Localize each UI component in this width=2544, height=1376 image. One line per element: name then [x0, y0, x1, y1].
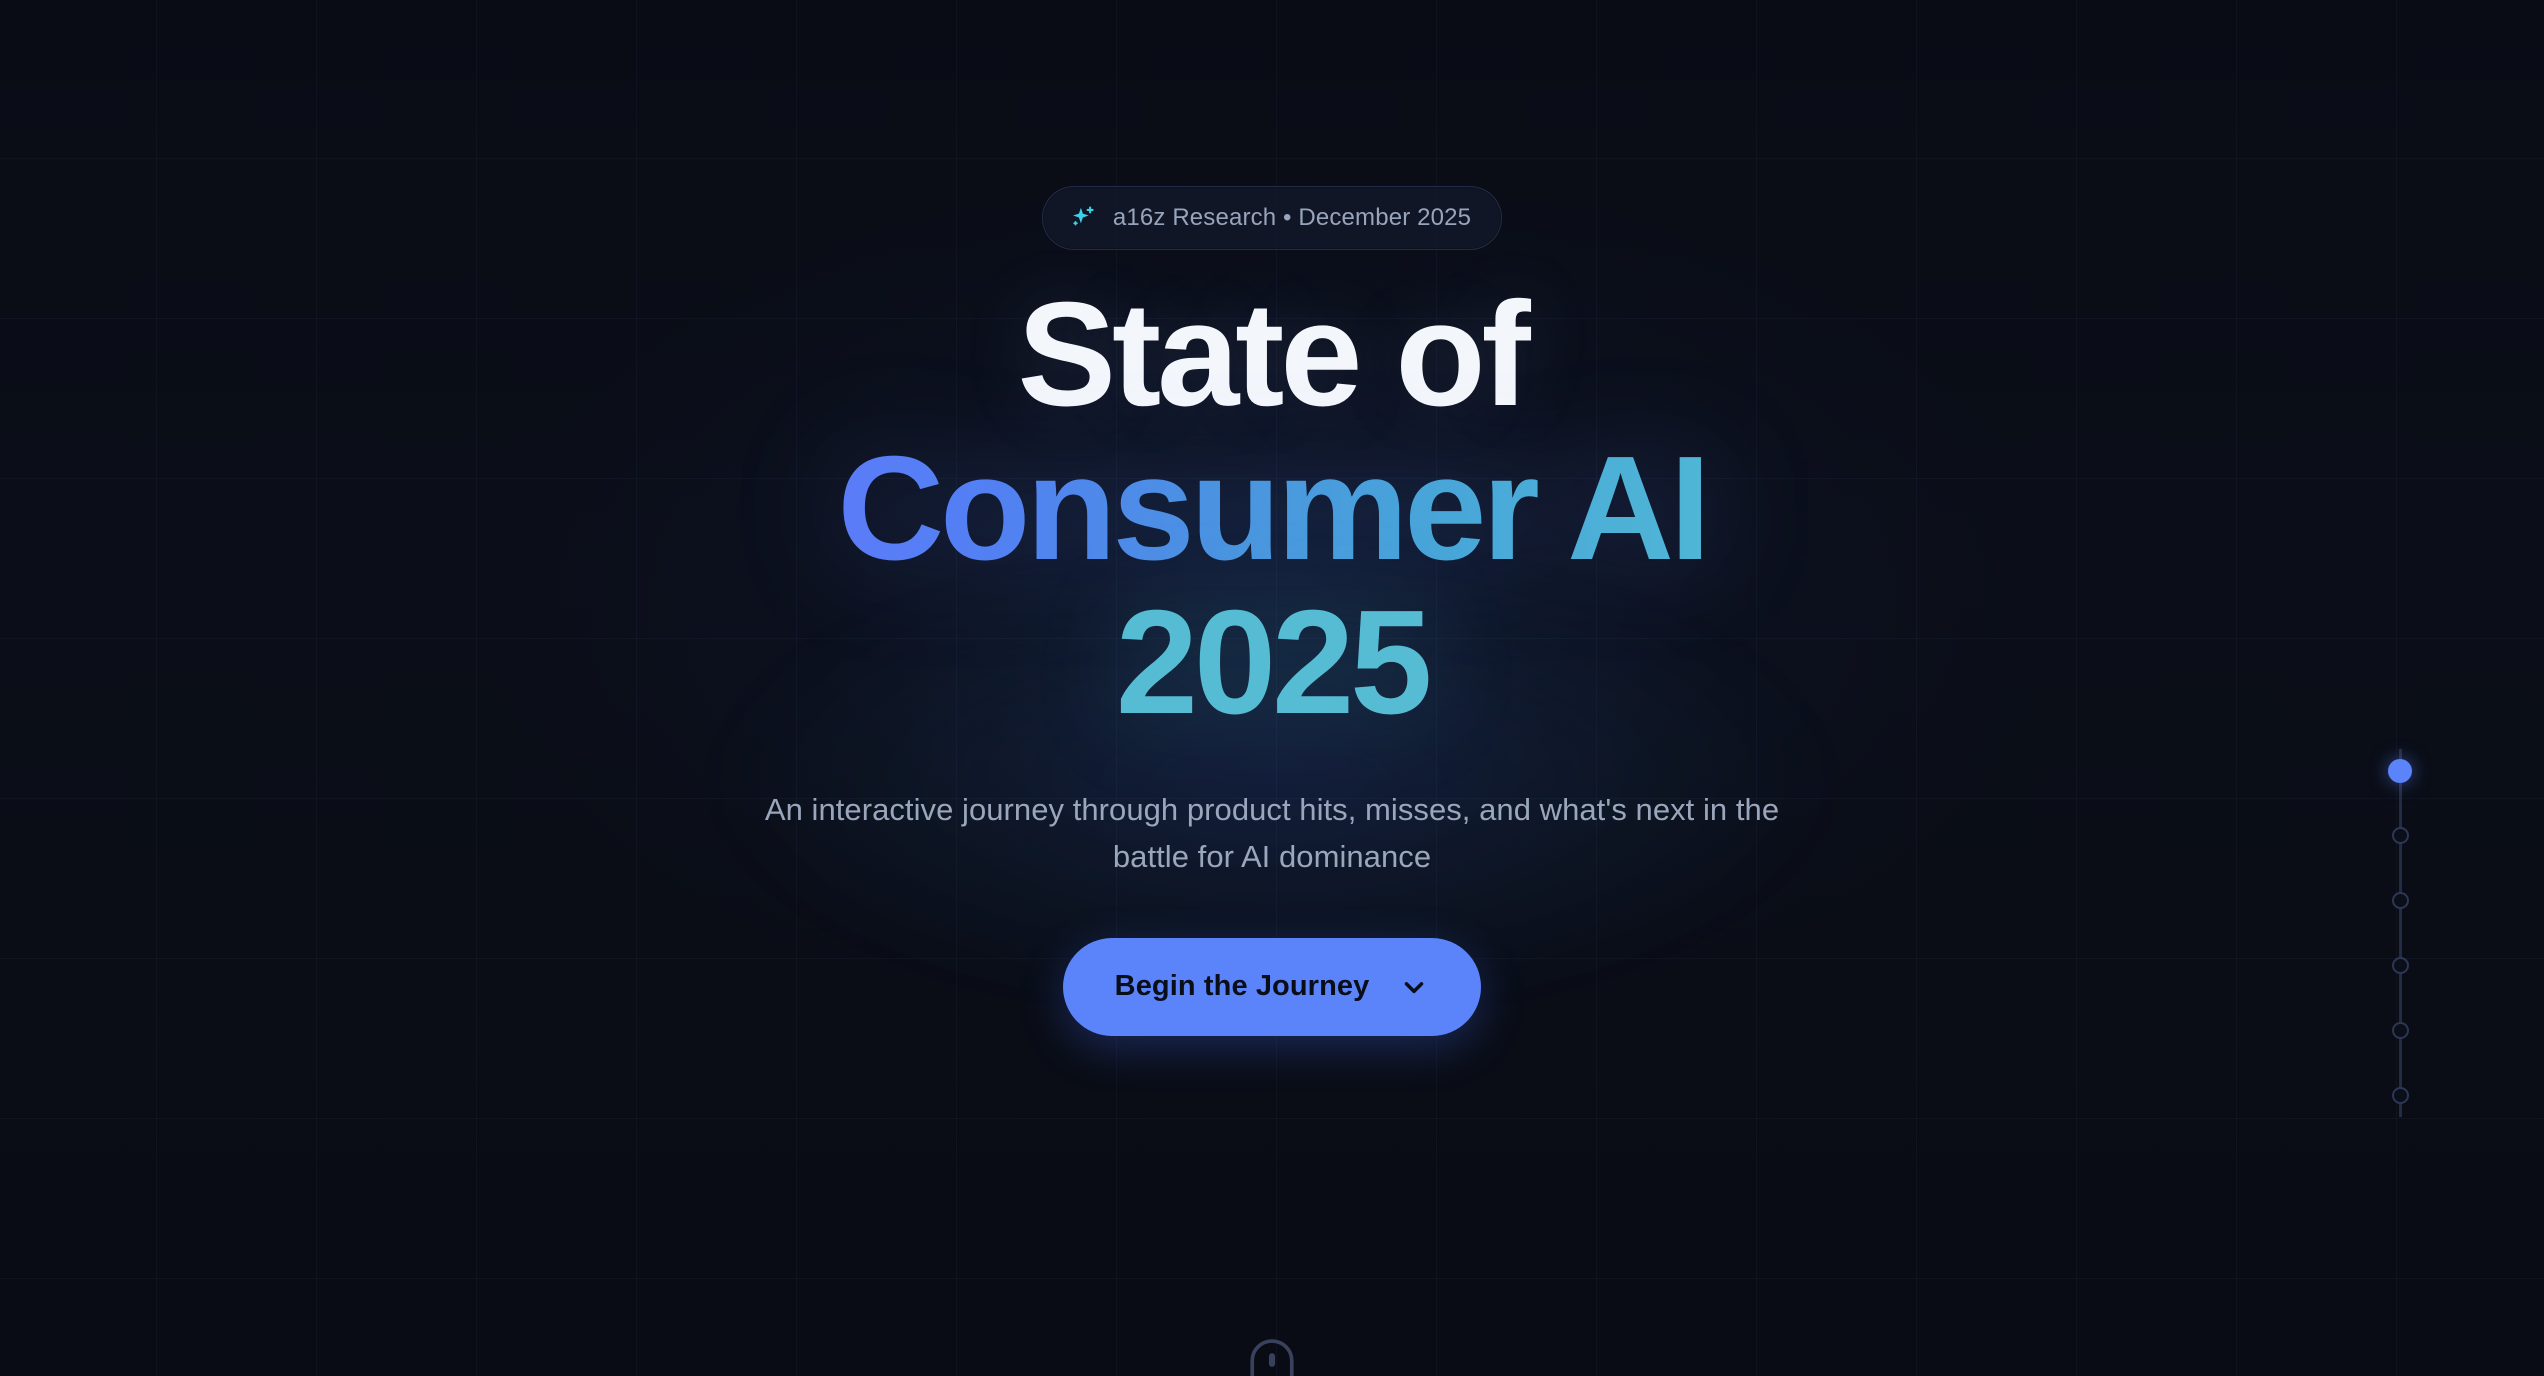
begin-journey-button[interactable]: Begin the Journey [1063, 938, 1482, 1036]
section-nav-dot-2[interactable] [2382, 803, 2418, 868]
section-progress-nav[interactable] [2382, 738, 2418, 1128]
title-line-1: State of [837, 278, 1706, 432]
section-nav-dot-6[interactable] [2382, 1063, 2418, 1128]
section-nav-dot-5[interactable] [2382, 998, 2418, 1063]
research-badge[interactable]: a16z Research • December 2025 [1042, 186, 1502, 250]
page-title: State of Consumer AI 2025 [837, 278, 1706, 740]
section-nav-dot-mark [2392, 1022, 2409, 1039]
section-nav-dot-mark [2388, 759, 2412, 783]
title-line-2: Consumer AI [837, 432, 1706, 586]
section-nav-dot-mark [2392, 957, 2409, 974]
hero-section: a16z Research • December 2025 State of C… [0, 0, 2544, 1376]
section-nav-dot-1[interactable] [2382, 738, 2418, 803]
section-nav-dot-mark [2392, 892, 2409, 909]
section-nav-dot-4[interactable] [2382, 933, 2418, 998]
begin-journey-label: Begin the Journey [1115, 970, 1370, 1003]
section-nav-dot-3[interactable] [2382, 868, 2418, 933]
research-badge-label: a16z Research • December 2025 [1113, 206, 1471, 230]
sparkles-icon [1069, 204, 1097, 232]
title-line-3: 2025 [837, 586, 1706, 740]
scroll-hint [1249, 1338, 1295, 1376]
hero-subtitle: An interactive journey through product h… [762, 786, 1782, 880]
hero-content: a16z Research • December 2025 State of C… [0, 0, 2544, 1036]
section-nav-dot-mark [2392, 827, 2409, 844]
chevron-down-icon [1399, 972, 1429, 1002]
section-nav-dot-mark [2392, 1087, 2409, 1104]
